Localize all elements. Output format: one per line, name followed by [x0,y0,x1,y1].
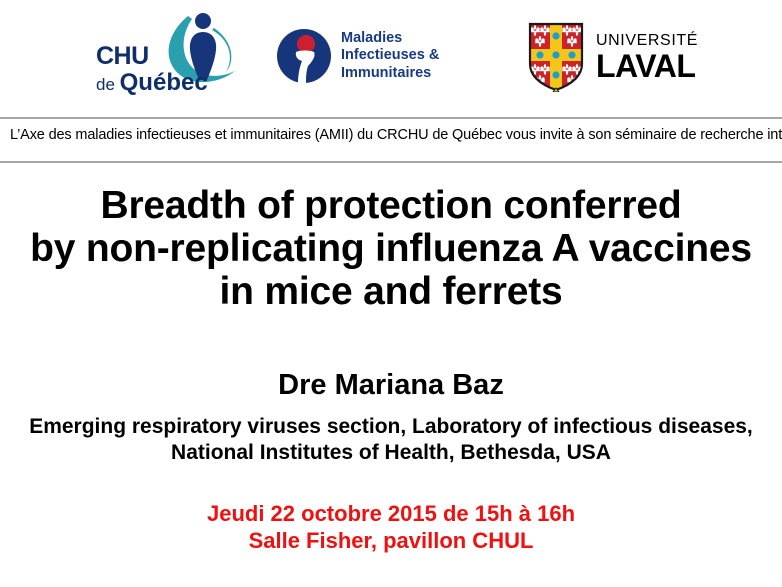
speaker-name: Dre Mariana Baz [0,369,782,401]
separator-line-bottom [0,161,782,163]
chu-logo-quebec: Québec [120,69,208,96]
chu-logo-de: de [96,75,120,94]
seminar-announcement-poster: CHU de Québec Maladies Infectieuses & Im… [0,0,782,587]
speaker-affiliation-line1: Emerging respiratory viruses section, La… [0,414,782,440]
laval-logo-line2: LAVAL [596,50,698,82]
speaker-affiliation: Emerging respiratory viruses section, La… [0,414,782,466]
logo-band: CHU de Québec Maladies Infectieuses & Im… [0,0,782,114]
separator-line-top [0,117,782,119]
universite-laval-logo: UNIVERSITÉ LAVAL [528,20,718,94]
amii-logo-line2: Infectieuses & [341,47,439,64]
laval-shield-icon [528,22,584,92]
amii-logo-line1: Maladies [341,30,439,47]
speaker-affiliation-line2: National Institutes of Health, Bethesda,… [0,440,782,466]
event-datetime: Jeudi 22 octobre 2015 de 15h à 16h [0,500,782,527]
amii-logo-text: Maladies Infectieuses & Immunitaires [341,30,439,81]
chu-logo-line2: de Québec [96,71,208,95]
chu-de-quebec-logo: CHU de Québec [96,12,246,100]
seminar-title-line3: in mice and ferrets [0,270,782,313]
event-location: Salle Fisher, pavillon CHUL [0,527,782,554]
seminar-title-line2: by non-replicating influenza A vaccines [0,227,782,270]
laval-logo-text: UNIVERSITÉ LAVAL [596,33,698,82]
seminar-title: Breadth of protection conferred by non-r… [0,184,782,313]
chu-logo-line1: CHU [96,44,208,69]
invitation-line: L’Axe des maladies infectieuses et immun… [10,127,776,143]
seminar-title-line1: Breadth of protection conferred [0,184,782,227]
maladies-infectieuses-immunitaires-logo: Maladies Infectieuses & Immunitaires [276,24,476,88]
event-details: Jeudi 22 octobre 2015 de 15h à 16h Salle… [0,500,782,554]
laval-logo-line1: UNIVERSITÉ [596,33,698,49]
chu-logo-text: CHU de Québec [96,44,208,95]
amii-circle-person-icon [276,28,332,84]
amii-logo-line3: Immunitaires [341,65,439,82]
